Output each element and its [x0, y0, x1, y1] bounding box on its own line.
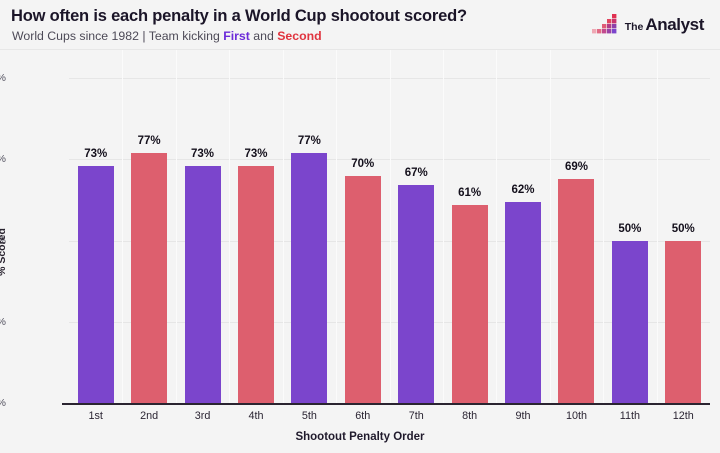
- x-axis-tick-label: 11th: [620, 410, 640, 422]
- bar-value-label: 77%: [298, 135, 321, 147]
- logo-the-text: The: [625, 21, 644, 33]
- bar-value-label: 69%: [565, 161, 588, 173]
- x-axis-tick-label: 1st: [89, 410, 103, 422]
- bar-value-label: 61%: [458, 187, 481, 199]
- page-title: How often is each penalty in a World Cup…: [11, 7, 467, 26]
- x-axis-tick-label: 5th: [302, 410, 317, 422]
- x-axis-tick-label: 2nd: [140, 410, 158, 422]
- bar-value-label: 67%: [405, 167, 428, 179]
- y-axis-title: % Scored: [0, 228, 8, 276]
- bar-value-label: 73%: [84, 148, 107, 160]
- logo-analyst-text: Analyst: [645, 15, 704, 35]
- bar-value-label: 77%: [138, 135, 161, 147]
- x-axis-tick-label: 8th: [462, 410, 477, 422]
- legend-label-first: First: [223, 29, 250, 43]
- subtitle-middle: and: [250, 29, 277, 43]
- bar-value-label: 70%: [351, 158, 374, 170]
- bar-chart: 0%25%50%75%100% % Scored 1st2nd3rd4th5th…: [0, 50, 720, 453]
- logo-wordmark: The Analyst: [625, 15, 704, 35]
- y-axis-tick-label: 100%: [0, 72, 6, 84]
- chart-subtitle: World Cups since 1982 | Team kicking Fir…: [12, 29, 322, 43]
- x-axis-tick-label: 7th: [409, 410, 424, 422]
- bar-value-label: 62%: [512, 184, 535, 196]
- legend-label-second: Second: [277, 29, 321, 43]
- the-analyst-logo: The Analyst: [591, 12, 704, 38]
- bar-value-label: 50%: [618, 223, 641, 235]
- x-axis-tick-label: 4th: [248, 410, 263, 422]
- analyst-pyramid-logo-icon: [591, 14, 621, 36]
- x-axis-tick-label: 12th: [673, 410, 694, 422]
- y-axis-tick-label: 0%: [0, 397, 6, 409]
- bar-value-label: 73%: [244, 148, 267, 160]
- x-axis-tick-label: 6th: [355, 410, 370, 422]
- x-axis-tick-label: 3rd: [195, 410, 211, 422]
- x-axis-tick-label: 10th: [566, 410, 587, 422]
- chart-header: How often is each penalty in a World Cup…: [0, 0, 720, 50]
- x-axis-title: Shootout Penalty Order: [0, 431, 720, 443]
- bar-value-label: 73%: [191, 148, 214, 160]
- y-axis-labels: 0%25%50%75%100%: [0, 50, 720, 453]
- bar-value-label: 50%: [672, 223, 695, 235]
- subtitle-prefix: World Cups since 1982 | Team kicking: [12, 29, 223, 43]
- y-axis-tick-label: 75%: [0, 153, 6, 165]
- x-axis-tick-label: 9th: [516, 410, 531, 422]
- y-axis-tick-label: 25%: [0, 316, 6, 328]
